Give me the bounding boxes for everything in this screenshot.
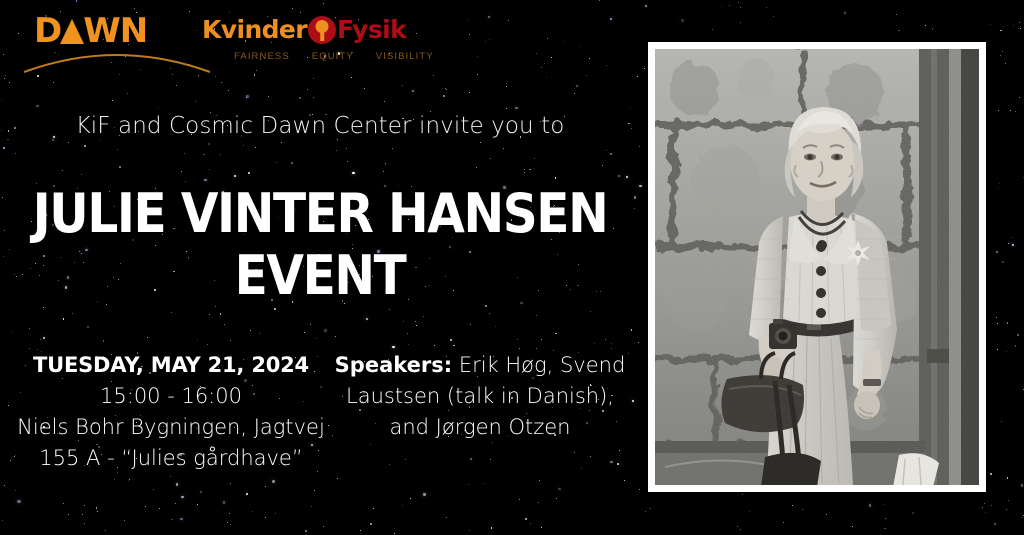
star-dot bbox=[1017, 334, 1019, 336]
star-dot bbox=[1005, 63, 1006, 64]
star-dot bbox=[826, 514, 827, 515]
star-dot bbox=[1008, 243, 1009, 244]
star-dot bbox=[998, 188, 999, 189]
star-dot bbox=[1000, 30, 1002, 32]
event-title-line-2: EVENT bbox=[18, 245, 622, 307]
star-dot bbox=[742, 494, 743, 495]
event-details-when-where: TUESDAY, MAY 21, 2024 15:00 - 16:00 Niel… bbox=[12, 350, 330, 474]
star-dot bbox=[1015, 345, 1017, 347]
event-poster: DWN Kvinder Fysik FAIRNESS EQUITY VISIBI… bbox=[0, 0, 1024, 535]
star-dot bbox=[998, 110, 999, 111]
invite-line: KiF and Cosmic Dawn Center invite you to bbox=[0, 113, 640, 139]
star-dot bbox=[1019, 22, 1020, 23]
star-dot bbox=[898, 30, 900, 32]
star-dot bbox=[1013, 25, 1015, 27]
star-dot bbox=[1020, 28, 1021, 29]
star-dot bbox=[991, 505, 992, 506]
star-dot bbox=[1006, 509, 1007, 510]
star-dot bbox=[783, 522, 784, 523]
star-dot bbox=[997, 323, 998, 324]
julie-vinter-hansen-portrait bbox=[655, 49, 979, 485]
star-dot bbox=[738, 2, 739, 3]
star-dot bbox=[766, 7, 767, 8]
star-dot bbox=[740, 22, 741, 23]
star-dot bbox=[1008, 500, 1009, 501]
star-dot bbox=[1022, 517, 1023, 518]
star-dot bbox=[925, 25, 926, 26]
star-dot bbox=[681, 19, 684, 22]
star-dot bbox=[990, 24, 991, 25]
star-dot bbox=[645, 5, 647, 7]
star-dot bbox=[1002, 51, 1003, 52]
star-dot bbox=[729, 5, 730, 6]
star-dot bbox=[985, 512, 986, 513]
star-dot bbox=[644, 68, 645, 69]
portrait-photo-frame bbox=[648, 42, 986, 492]
star-dot bbox=[844, 12, 846, 14]
star-dot bbox=[721, 6, 722, 7]
star-dot bbox=[740, 529, 741, 530]
star-dot bbox=[802, 509, 803, 510]
star-dot bbox=[883, 504, 884, 505]
star-dot bbox=[712, 29, 714, 31]
star-dot bbox=[1001, 421, 1002, 422]
star-dot bbox=[737, 526, 738, 527]
star-dot bbox=[852, 526, 853, 527]
star-dot bbox=[650, 508, 651, 509]
star-dot bbox=[884, 528, 886, 530]
star-dot bbox=[740, 7, 741, 8]
star-dot bbox=[749, 511, 750, 512]
event-venue-line-1: Niels Bohr Bygningen, Jagtvej bbox=[12, 412, 330, 443]
star-dot bbox=[912, 512, 914, 514]
event-details-speakers: Speakers: Erik Høg, Svend Laustsen (talk… bbox=[330, 350, 630, 443]
star-dot bbox=[1012, 237, 1013, 238]
star-dot bbox=[1007, 477, 1009, 479]
event-date: TUESDAY, MAY 21, 2024 bbox=[12, 350, 330, 381]
event-details: TUESDAY, MAY 21, 2024 15:00 - 16:00 Niel… bbox=[8, 350, 634, 474]
star-dot bbox=[1012, 244, 1014, 246]
star-dot bbox=[932, 28, 934, 30]
portrait-illustration bbox=[655, 49, 979, 485]
star-dot bbox=[1021, 484, 1023, 486]
star-dot bbox=[1002, 261, 1004, 263]
star-dot bbox=[885, 518, 887, 520]
star-dot bbox=[1019, 97, 1020, 98]
star-dot bbox=[982, 507, 983, 508]
event-title-line-1: JULIE VINTER HANSEN bbox=[18, 183, 622, 245]
star-dot bbox=[994, 523, 996, 525]
speakers-label: Speakers: bbox=[335, 353, 452, 377]
star-dot bbox=[1007, 322, 1009, 324]
event-venue-line-2: 155 A - “Julies gårdhave” bbox=[12, 443, 330, 474]
star-dot bbox=[996, 317, 997, 318]
poster-text-column: KiF and Cosmic Dawn Center invite you to… bbox=[0, 0, 640, 535]
star-dot bbox=[1000, 55, 1001, 56]
star-dot bbox=[996, 251, 998, 253]
star-dot bbox=[792, 505, 794, 507]
star-dot bbox=[1015, 111, 1016, 112]
star-dot bbox=[869, 504, 871, 506]
star-dot bbox=[997, 349, 998, 350]
star-dot bbox=[896, 14, 897, 15]
star-dot bbox=[1006, 351, 1007, 352]
page-title: JULIE VINTER HANSEN EVENT bbox=[18, 183, 622, 307]
star-dot bbox=[1010, 110, 1011, 111]
star-dot bbox=[999, 183, 1000, 184]
event-time: 15:00 - 16:00 bbox=[12, 381, 330, 412]
star-dot bbox=[990, 473, 992, 475]
star-dot bbox=[984, 503, 985, 504]
star-dot bbox=[773, 16, 774, 17]
star-dot bbox=[645, 511, 646, 512]
